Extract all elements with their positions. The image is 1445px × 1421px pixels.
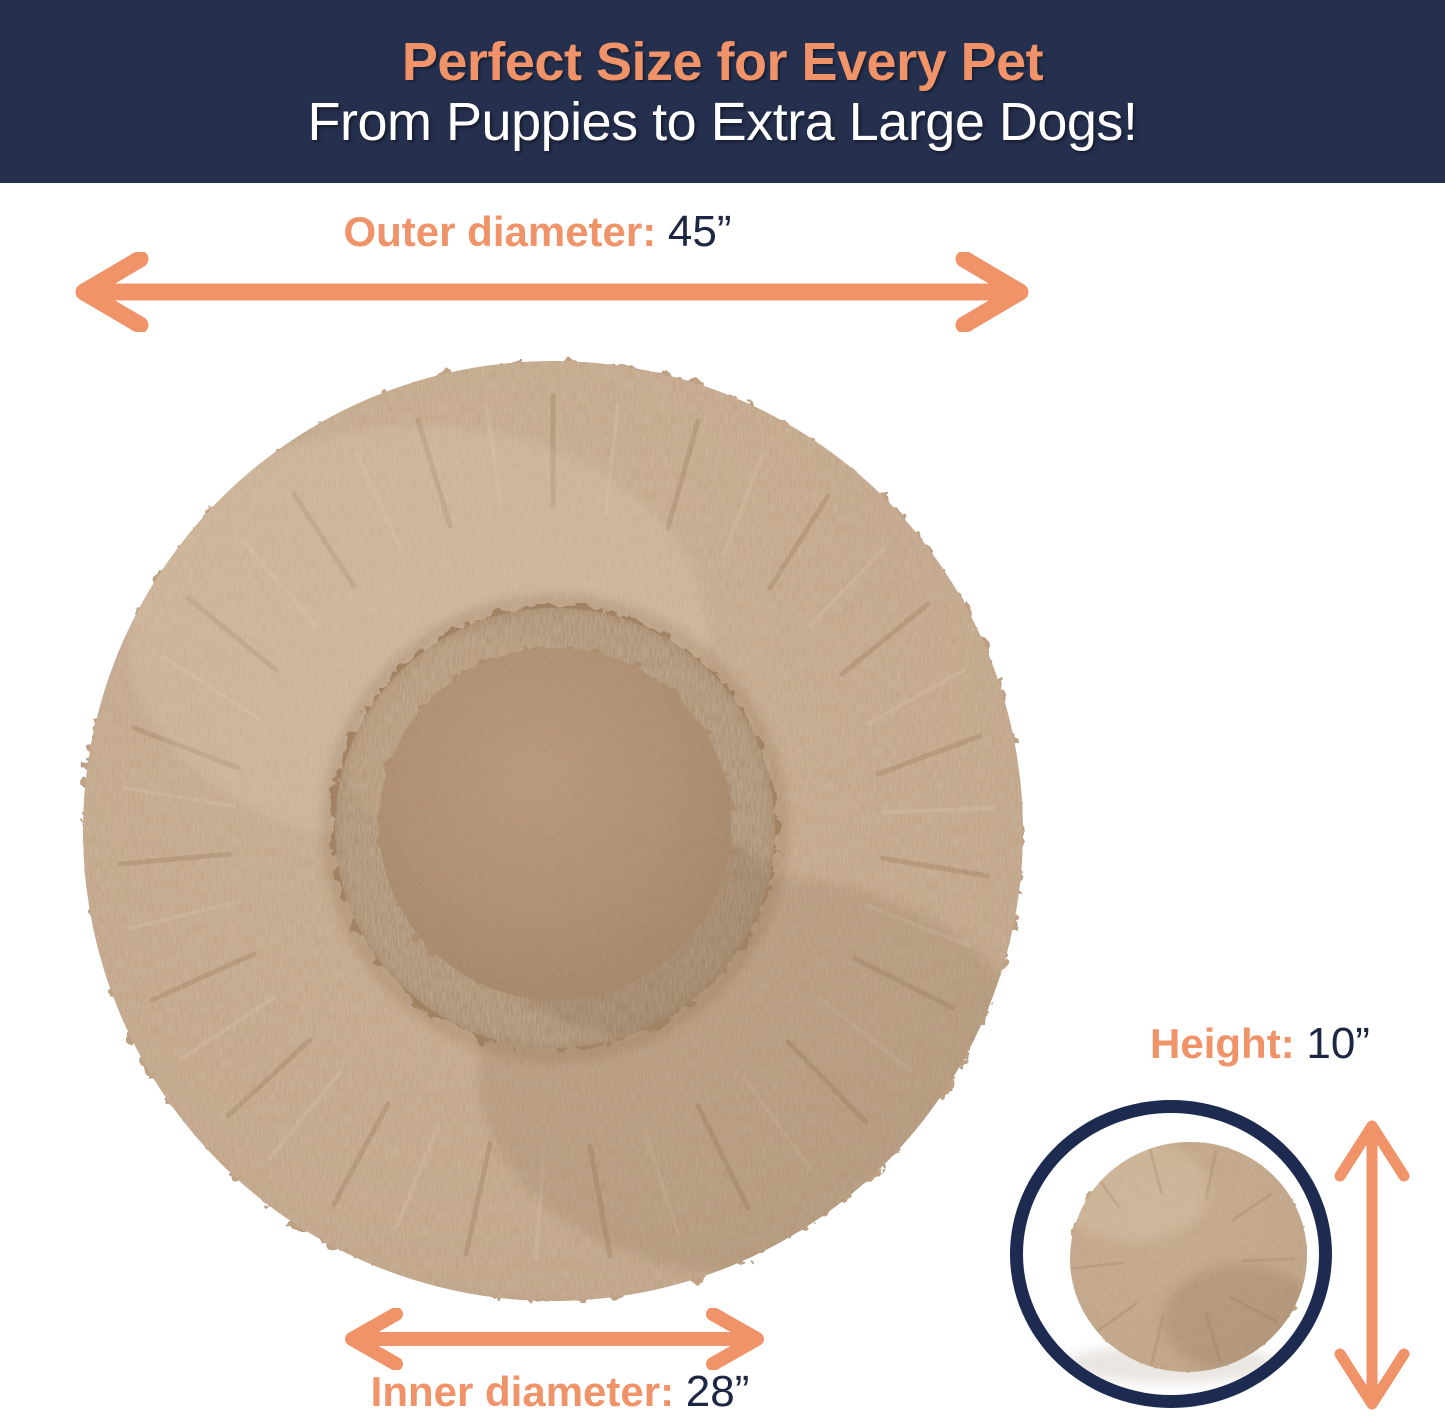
height-name: Height:: [1150, 1020, 1295, 1067]
page-title: Perfect Size for Every Pet: [402, 35, 1043, 89]
outer-diameter-name: Outer diameter:: [343, 208, 656, 255]
bed-center-pad: [379, 648, 731, 1000]
product-photo-side-view: [1023, 1113, 1319, 1395]
outer-diameter-label: Outer diameter: 45”: [0, 210, 1075, 254]
outer-diameter-value: 45”: [668, 207, 732, 256]
inner-diameter-value: 28”: [686, 1367, 750, 1416]
inner-diameter-name: Inner diameter:: [371, 1368, 674, 1415]
product-photo-top-view: [58, 336, 1048, 1326]
height-value: 10”: [1306, 1019, 1370, 1068]
inner-diameter-label: Inner diameter: 28”: [240, 1370, 880, 1414]
side-view-inset: [1010, 1100, 1332, 1408]
height-arrow-icon: [1330, 1110, 1414, 1420]
outer-diameter-arrow-icon: [62, 252, 1042, 332]
header-banner: Perfect Size for Every Pet From Puppies …: [0, 0, 1445, 183]
inner-diameter-arrow-icon: [332, 1308, 777, 1370]
infographic-page: Perfect Size for Every Pet From Puppies …: [0, 0, 1445, 1421]
page-subtitle: From Puppies to Extra Large Dogs!: [308, 95, 1138, 149]
height-label: Height: 10”: [1090, 1022, 1430, 1066]
